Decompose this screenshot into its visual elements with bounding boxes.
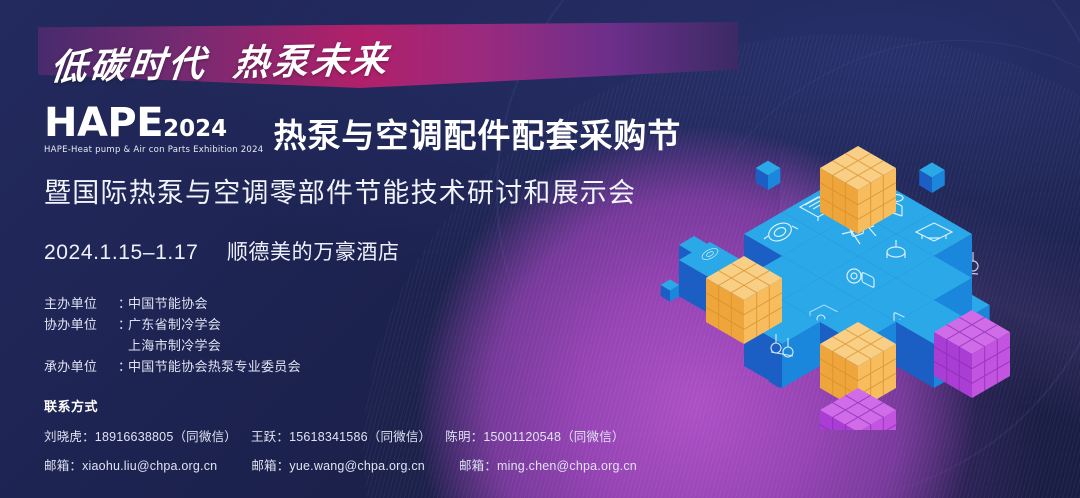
- contact-email: 邮箱：xiaohu.liu@chpa.org.cn: [44, 455, 217, 474]
- hape-subtitle: HAPE-Heat pump & Air con Parts Exhibitio…: [44, 145, 263, 155]
- page-title: 热泵与空调配件配套采购节: [273, 119, 681, 157]
- organizer-value: 广东省制冷学会: [128, 314, 221, 335]
- event-date: 2024.1.15–1.17: [44, 241, 198, 264]
- organizer-label: 主办单位: [44, 293, 118, 314]
- headline-block: HAPE2024 HAPE-Heat pump & Air con Parts …: [44, 104, 734, 377]
- title-row: HAPE2024 HAPE-Heat pump & Air con Parts …: [44, 104, 734, 157]
- contact-email: 邮箱：yue.wang@chpa.org.cn: [251, 455, 425, 474]
- slogan-right: 热泵未来: [231, 31, 393, 87]
- hape-name: HAPE: [44, 100, 163, 146]
- organizer-row: 协办单位 ： 广东省制冷学会: [44, 314, 734, 335]
- organizer-value: 上海市制冷学会: [128, 335, 221, 356]
- event-date-venue: 2024.1.15–1.17 顺德美的万豪酒店: [44, 236, 734, 266]
- organizer-value: 中国节能协会热泵专业委员会: [128, 356, 301, 377]
- organizer-colon: [118, 335, 128, 356]
- poster-canvas: 低碳时代 热泵未来 HAPE2024 HAPE-Heat pump & Air …: [0, 0, 1080, 498]
- organizer-list: 主办单位 ： 中国节能协会 协办单位 ： 广东省制冷学会 上海市制冷学会 承办单…: [44, 293, 734, 377]
- hape-wordmark: HAPE2024: [44, 104, 263, 142]
- contact-title: 联系方式: [44, 396, 744, 415]
- organizer-row: 上海市制冷学会: [44, 335, 734, 356]
- organizer-label: 协办单位: [44, 314, 118, 335]
- event-venue: 顺德美的万豪酒店: [227, 241, 400, 264]
- hape-logo: HAPE2024 HAPE-Heat pump & Air con Parts …: [44, 104, 263, 157]
- contact-email: 邮箱：ming.chen@chpa.org.cn: [459, 455, 637, 474]
- organizer-label: 承办单位: [44, 356, 118, 377]
- organizer-row: 主办单位 ： 中国节能协会: [44, 293, 734, 314]
- organizer-value: 中国节能协会: [128, 293, 208, 314]
- floating-cube-small: [661, 279, 680, 301]
- organizer-row: 承办单位 ： 中国节能协会热泵专业委员会: [44, 356, 734, 377]
- contact-email-row: 邮箱：xiaohu.liu@chpa.org.cn 邮箱：yue.wang@ch…: [44, 455, 744, 474]
- organizer-colon: ：: [118, 293, 128, 314]
- organizer-colon: ：: [118, 314, 128, 335]
- slogan-ribbon: 低碳时代 热泵未来: [0, 22, 760, 94]
- floating-cube-small: [756, 161, 781, 191]
- floating-cube-small: [919, 162, 945, 193]
- contact-phone: 刘晓虎：18916638805（同微信）: [44, 426, 237, 445]
- contact-block: 联系方式 刘晓虎：18916638805（同微信） 王跃：15618341586…: [44, 396, 744, 474]
- hape-year: 2024: [163, 116, 227, 142]
- page-subtitle: 暨国际热泵与空调零部件节能技术研讨和展示会: [44, 171, 734, 210]
- isometric-cube-artwork: [660, 120, 1060, 430]
- organizer-colon: ：: [118, 356, 128, 377]
- contact-phone-row: 刘晓虎：18916638805（同微信） 王跃：15618341586（同微信）…: [44, 426, 744, 445]
- organizer-label: [44, 335, 118, 356]
- contact-phone: 王跃：15618341586（同微信）: [251, 426, 431, 445]
- slogan-left: 低碳时代: [49, 35, 211, 91]
- contact-phone: 陈明：15001120548（同微信）: [445, 426, 624, 445]
